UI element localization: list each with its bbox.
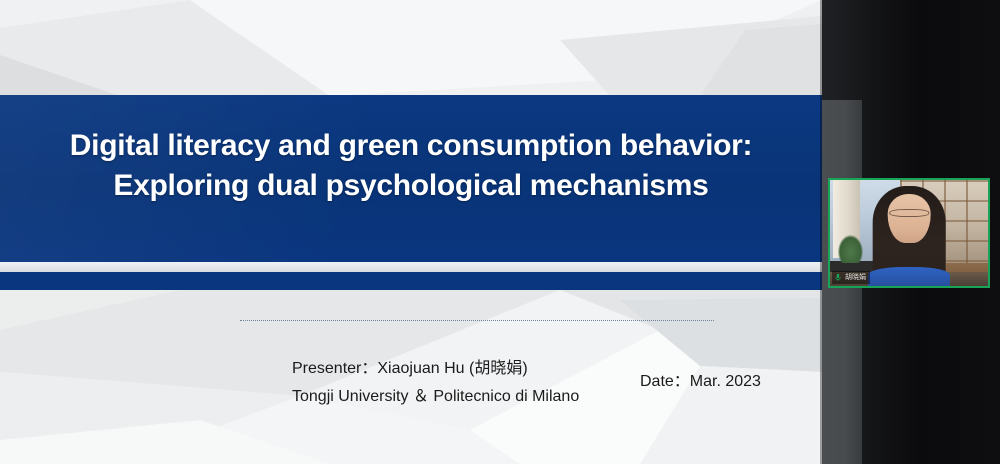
participant-video-tile[interactable]: 胡晓娟 [828, 178, 990, 288]
presenter-affiliation-line: Tongji University ＆ Politecnico di Milan… [292, 383, 579, 411]
glasses-icon [889, 209, 929, 217]
background-plant [838, 235, 863, 263]
slide-title: Digital literacy and green consumption b… [0, 126, 822, 206]
dotted-divider [240, 320, 714, 321]
band-lower-strip [0, 272, 822, 290]
meeting-screen: Digital literacy and green consumption b… [0, 0, 1000, 464]
participant-face [888, 194, 931, 243]
participant-name-bar: 胡晓娟 [832, 271, 870, 284]
slide-date: Date：Mar. 2023 [640, 371, 761, 393]
microphone-icon[interactable] [834, 273, 842, 282]
band-white-stripe [0, 262, 822, 272]
slide-right-edge [820, 0, 822, 464]
presenter-block: Presenter：Xiaojuan Hu (胡晓娟) Tongji Unive… [292, 355, 579, 411]
shared-slide[interactable]: Digital literacy and green consumption b… [0, 0, 822, 464]
participant-shirt [868, 267, 950, 286]
participant-name-label: 胡晓娟 [845, 273, 866, 282]
presenter-name-line: Presenter：Xiaojuan Hu (胡晓娟) [292, 355, 579, 383]
